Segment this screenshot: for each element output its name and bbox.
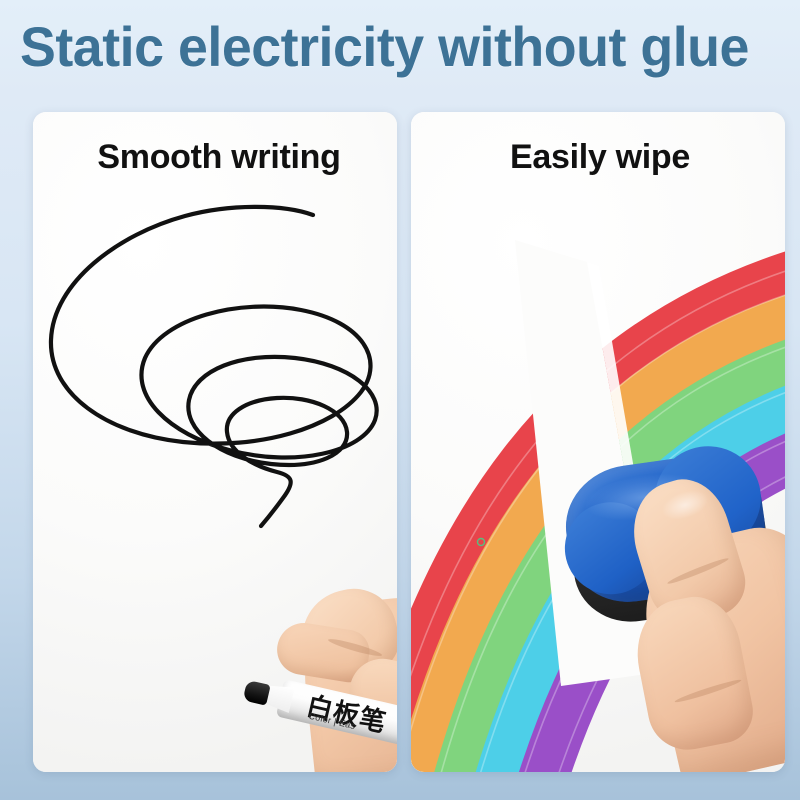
hand-holding-marker: 白板笔 Color | Eas (265, 582, 397, 772)
marker-tip-icon (243, 680, 271, 706)
infographic-canvas: Static electricity without glue Smooth w… (0, 0, 800, 800)
title-bar: Static electricity without glue (0, 0, 800, 104)
panel-title-easily-wipe: Easily wipe (411, 138, 785, 177)
eraser-layer (411, 112, 785, 772)
spiral-stroke (51, 207, 377, 526)
panel-smooth-writing: Smooth writing 白板笔 Color | Eas (33, 112, 397, 772)
panel-title-smooth-writing: Smooth writing (33, 138, 397, 177)
panel-easily-wipe: Easily wipe (411, 112, 785, 772)
page-title: Static electricity without glue (20, 14, 749, 79)
hand-holding-eraser (607, 470, 785, 770)
